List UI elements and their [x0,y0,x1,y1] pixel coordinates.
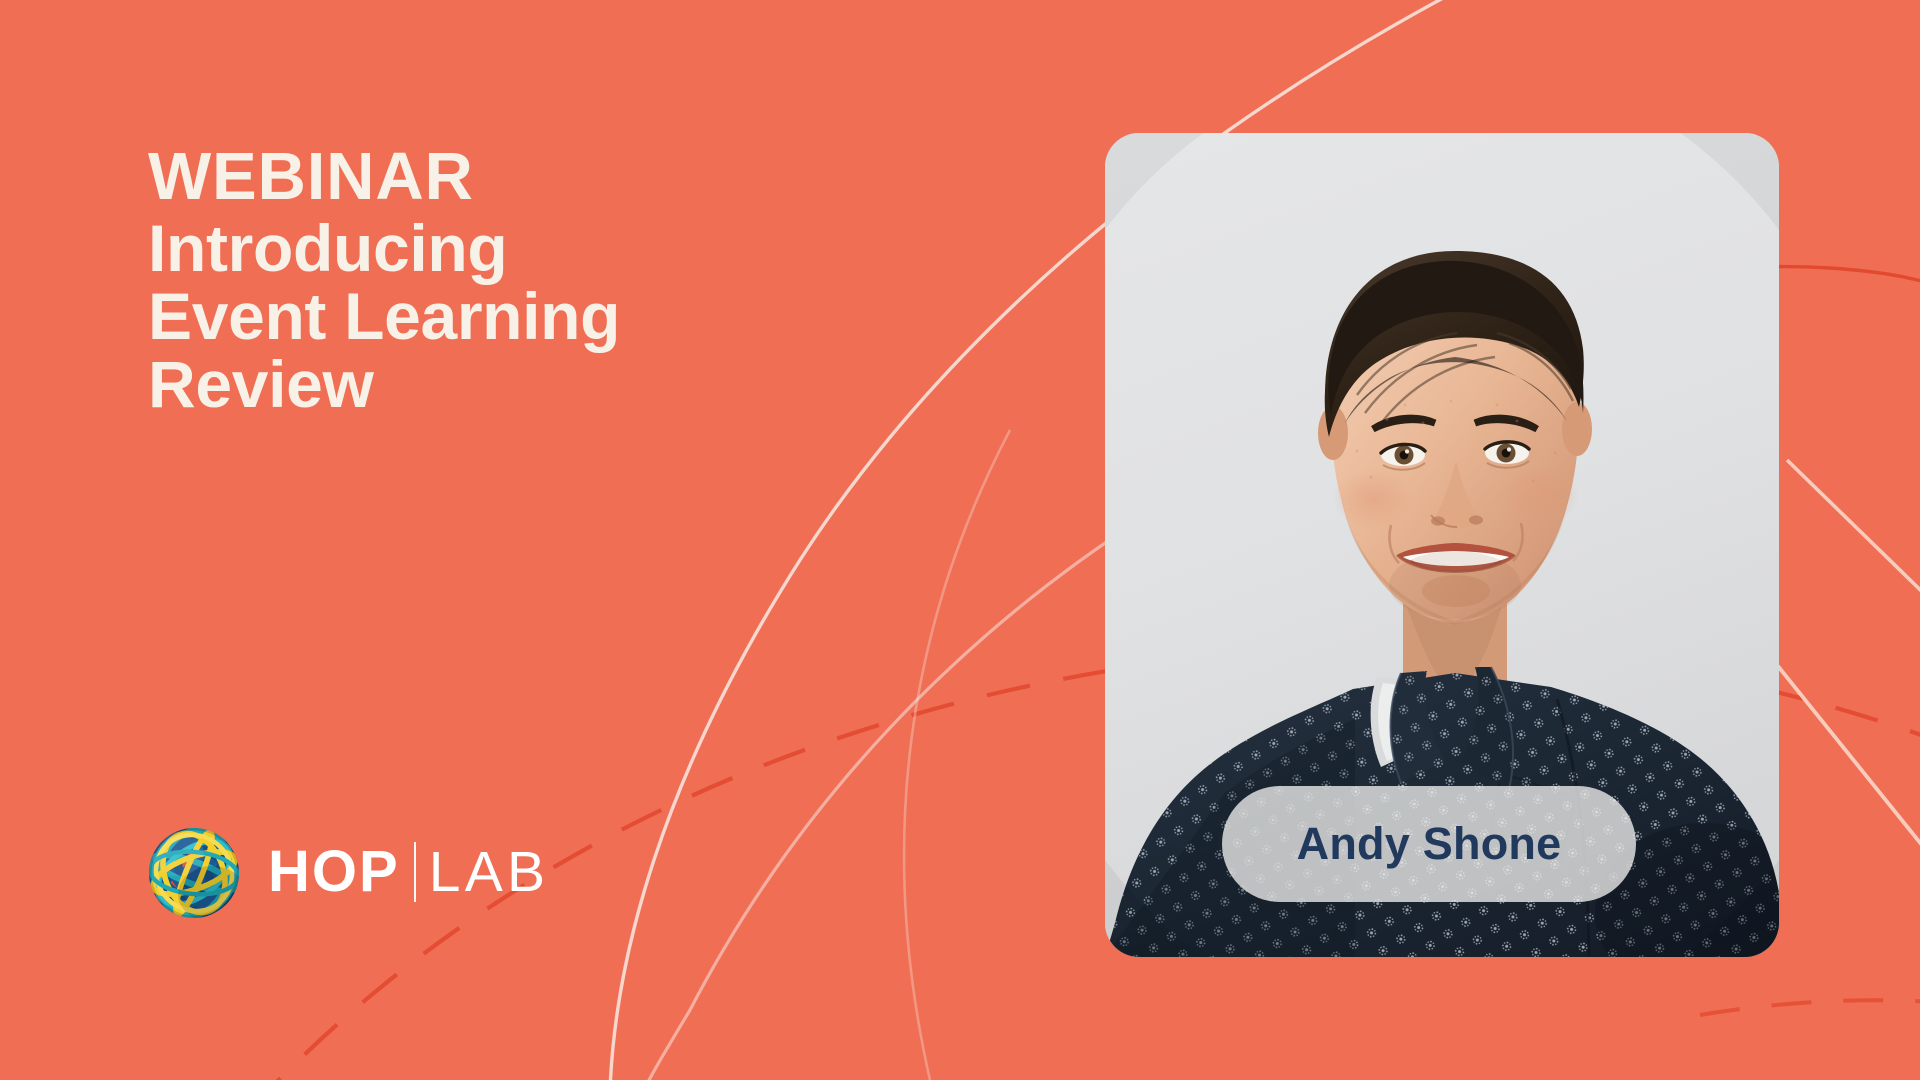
logo-wordmark: HOP LAB [268,841,549,903]
logo-divider [414,842,416,902]
headline-line-3: Review [148,351,908,419]
webinar-banner: WEBINAR Introducing Event Learning Revie… [0,0,1920,1080]
cream-line-right-upper-icon [1787,460,1920,612]
logo-hop-text: HOP [268,843,400,901]
headline-line-1: Introducing [148,215,908,283]
cream-arc-faint-icon [904,430,1010,1080]
logo-lab-text: LAB [429,844,550,901]
speaker-name-label: Andy Shone [1297,818,1562,870]
hoplab-logo[interactable]: HOP LAB [142,820,549,924]
cream-line-right-lower-icon [1773,660,1920,880]
headline-line-2: Event Learning [148,283,908,351]
headline-eyebrow: WEBINAR [148,142,908,215]
headline-block: WEBINAR Introducing Event Learning Revie… [148,142,908,419]
speaker-name-badge: Andy Shone [1222,786,1636,902]
rubber-band-ball-icon [142,820,246,924]
dashed-red-arc-bottom-right-icon [1700,1000,1920,1015]
